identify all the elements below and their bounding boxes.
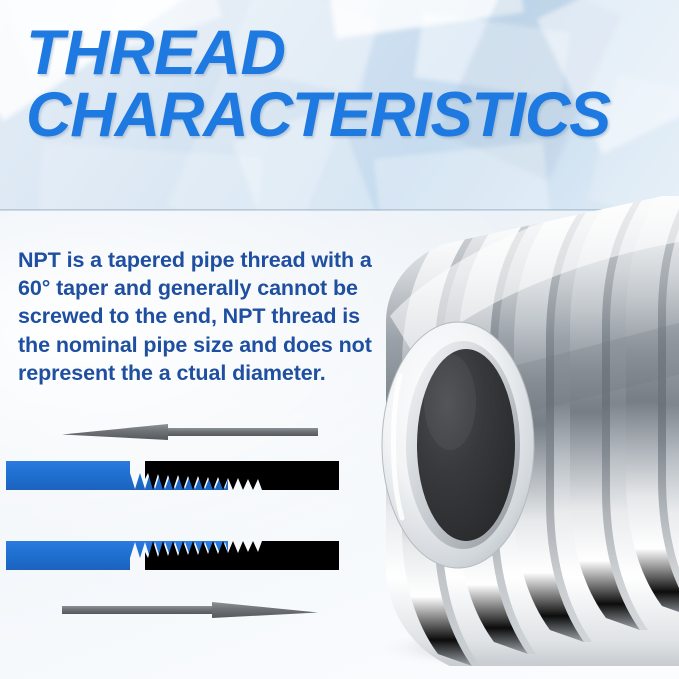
title-line-2: CHARACTERISTICS — [26, 84, 679, 146]
arrow-left-icon — [62, 419, 318, 445]
npt-thread-engagement-diagram — [0, 411, 360, 641]
header-banner: THREAD CHARACTERISTICS — [0, 0, 679, 211]
description-text: NPT is a tapered pipe thread with a 60° … — [18, 246, 378, 388]
pipe-render-svg — [330, 196, 679, 666]
thread-pair-top — [0, 459, 345, 495]
pipe-bore-sheen — [424, 354, 476, 450]
female-thread-black-top — [145, 461, 339, 490]
thread-characteristics-infographic: THREAD CHARACTERISTICS NPT is a tapered … — [0, 0, 679, 679]
arrow-right-icon — [62, 597, 318, 623]
page-title: THREAD CHARACTERISTICS — [26, 22, 679, 147]
title-line-1: THREAD — [26, 18, 286, 88]
thread-pair-bottom — [0, 539, 345, 575]
female-thread-black-bottom — [145, 541, 339, 570]
threaded-stainless-pipe-nipple — [330, 196, 679, 666]
